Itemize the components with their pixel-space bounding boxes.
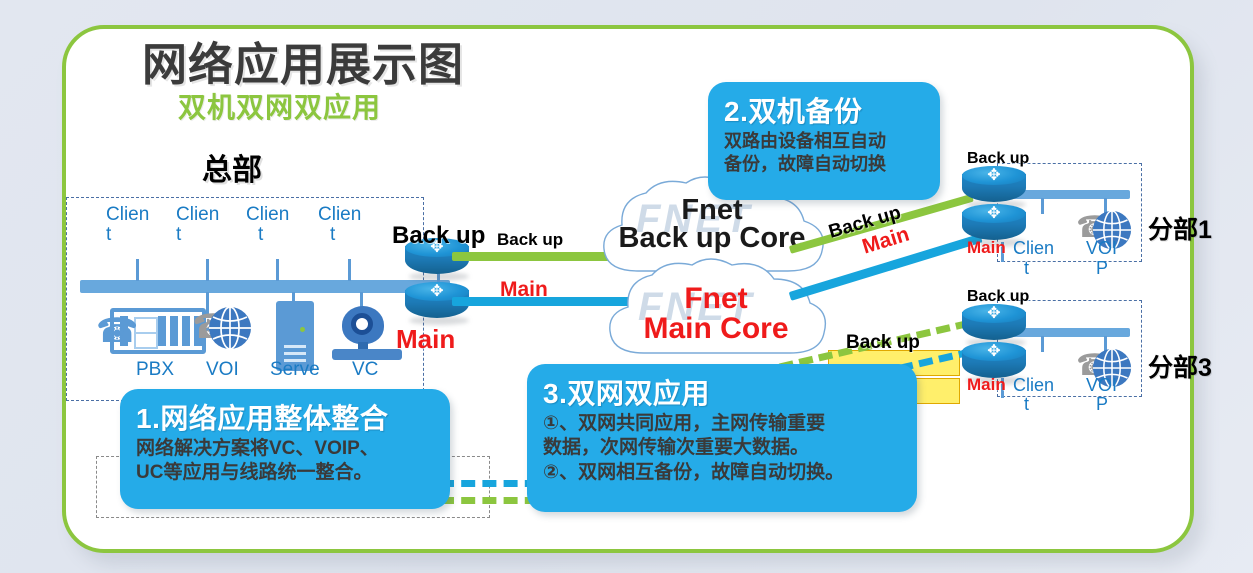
branch3-voip-label: P [1096,394,1108,415]
device-label: VOI [206,359,239,381]
branch3-client-label: t [1024,394,1029,415]
bus-drop [206,259,209,281]
client-label: t [330,224,335,246]
client-label: t [106,224,111,246]
pbx-handset-icon: ☎ [96,311,138,351]
client-label: Clien [246,204,289,226]
device-label: VC [352,359,378,381]
bus-drop [136,259,139,281]
branch1-client-label: Clien [1013,238,1054,259]
branch3-voip-label: VOI [1086,375,1117,396]
client-label: Clien [318,204,361,226]
client-label: Clien [176,204,219,226]
hq-router-main-label: Main [396,324,455,355]
client-label: t [258,224,263,246]
bus-drop [276,259,279,281]
branch1-main-label: Main [967,238,1006,258]
bus-drop [348,259,351,281]
branch1-voip-label: VOI [1086,238,1117,259]
router-arrows-icon: ✥ [976,168,1012,184]
router-arrows-icon: ✥ [976,344,1012,360]
branch3-main-label: Main [967,375,1006,395]
video-camera-icon [342,306,398,362]
callout-1-body-line: 网络解决方案将VC、VOIP、 [136,437,434,461]
callout-2-title: 2.双机备份 [724,90,924,130]
branch1-title: 分部1 [1148,210,1212,246]
callout-3-body-line: ①、双网共同应用，主网传输重要 [543,412,901,436]
branch3-backup-label: Back up [967,288,1029,306]
page-subtitle: 双机双网双应用 [178,86,381,126]
branch3-title: 分部3 [1148,348,1212,384]
headquarters-bus [80,280,450,293]
router-arrows-icon: ✥ [976,306,1012,322]
link-label-hq-core-main: Main [500,278,548,302]
client-label: Clien [106,204,149,226]
router-arrows-icon: ✥ [419,284,455,300]
callout-2-body-line: 双路由设备相互自动 [724,130,924,153]
branch1-client-label: t [1024,258,1029,279]
branch1-voip-label: P [1096,258,1108,279]
callout-3-body-line: ②、双网相互备份，故障自动切换。 [543,461,901,485]
branch1-backup-label: Back up [967,150,1029,168]
hq-router-backup-label: Back up [392,222,485,250]
device-label: PBX [136,359,174,381]
callout-1-body-line: UC等应用与线路统一整合。 [136,461,434,485]
callout-3[interactable]: 3.双网双应用 ①、双网共同应用，主网传输重要 数据，次网传输次重要大数据。 ②… [527,364,917,512]
globe-phone-icon: ☎ [196,303,252,355]
diagram-canvas: 网络应用展示图 双机双网双应用 总部 Clien t Clien t Clien… [0,0,1253,573]
callout-2-body-line: 备份，故障自动切换 [724,153,924,176]
callout-2[interactable]: 2.双机备份 双路由设备相互自动 备份，故障自动切换 [708,82,940,200]
link-label-core-b3-backup: Back up [846,332,920,354]
main-core-label-2: Main Core [600,313,832,345]
router-backup-branch1[interactable]: ✥ [962,166,1026,208]
callout-3-title: 3.双网双应用 [543,372,901,412]
main-core-cloud: FNET Fnet Main Core [600,255,832,367]
callout-1[interactable]: 1.网络应用整体整合 网络解决方案将VC、VOIP、 UC等应用与线路统一整合。 [120,389,450,509]
link-label-hq-core-backup: Back up [497,230,563,250]
router-arrows-icon: ✥ [976,206,1012,222]
callout-3-body-line: 数据，次网传输次重要大数据。 [543,436,901,460]
callout-1-title: 1.网络应用整体整合 [136,397,434,437]
router-backup-branch3[interactable]: ✥ [962,304,1026,346]
page-title: 网络应用展示图 [142,28,464,93]
headquarters-title: 总部 [202,145,262,189]
device-label: Serve [270,359,320,381]
client-label: t [176,224,181,246]
branch3-client-label: Clien [1013,375,1054,396]
